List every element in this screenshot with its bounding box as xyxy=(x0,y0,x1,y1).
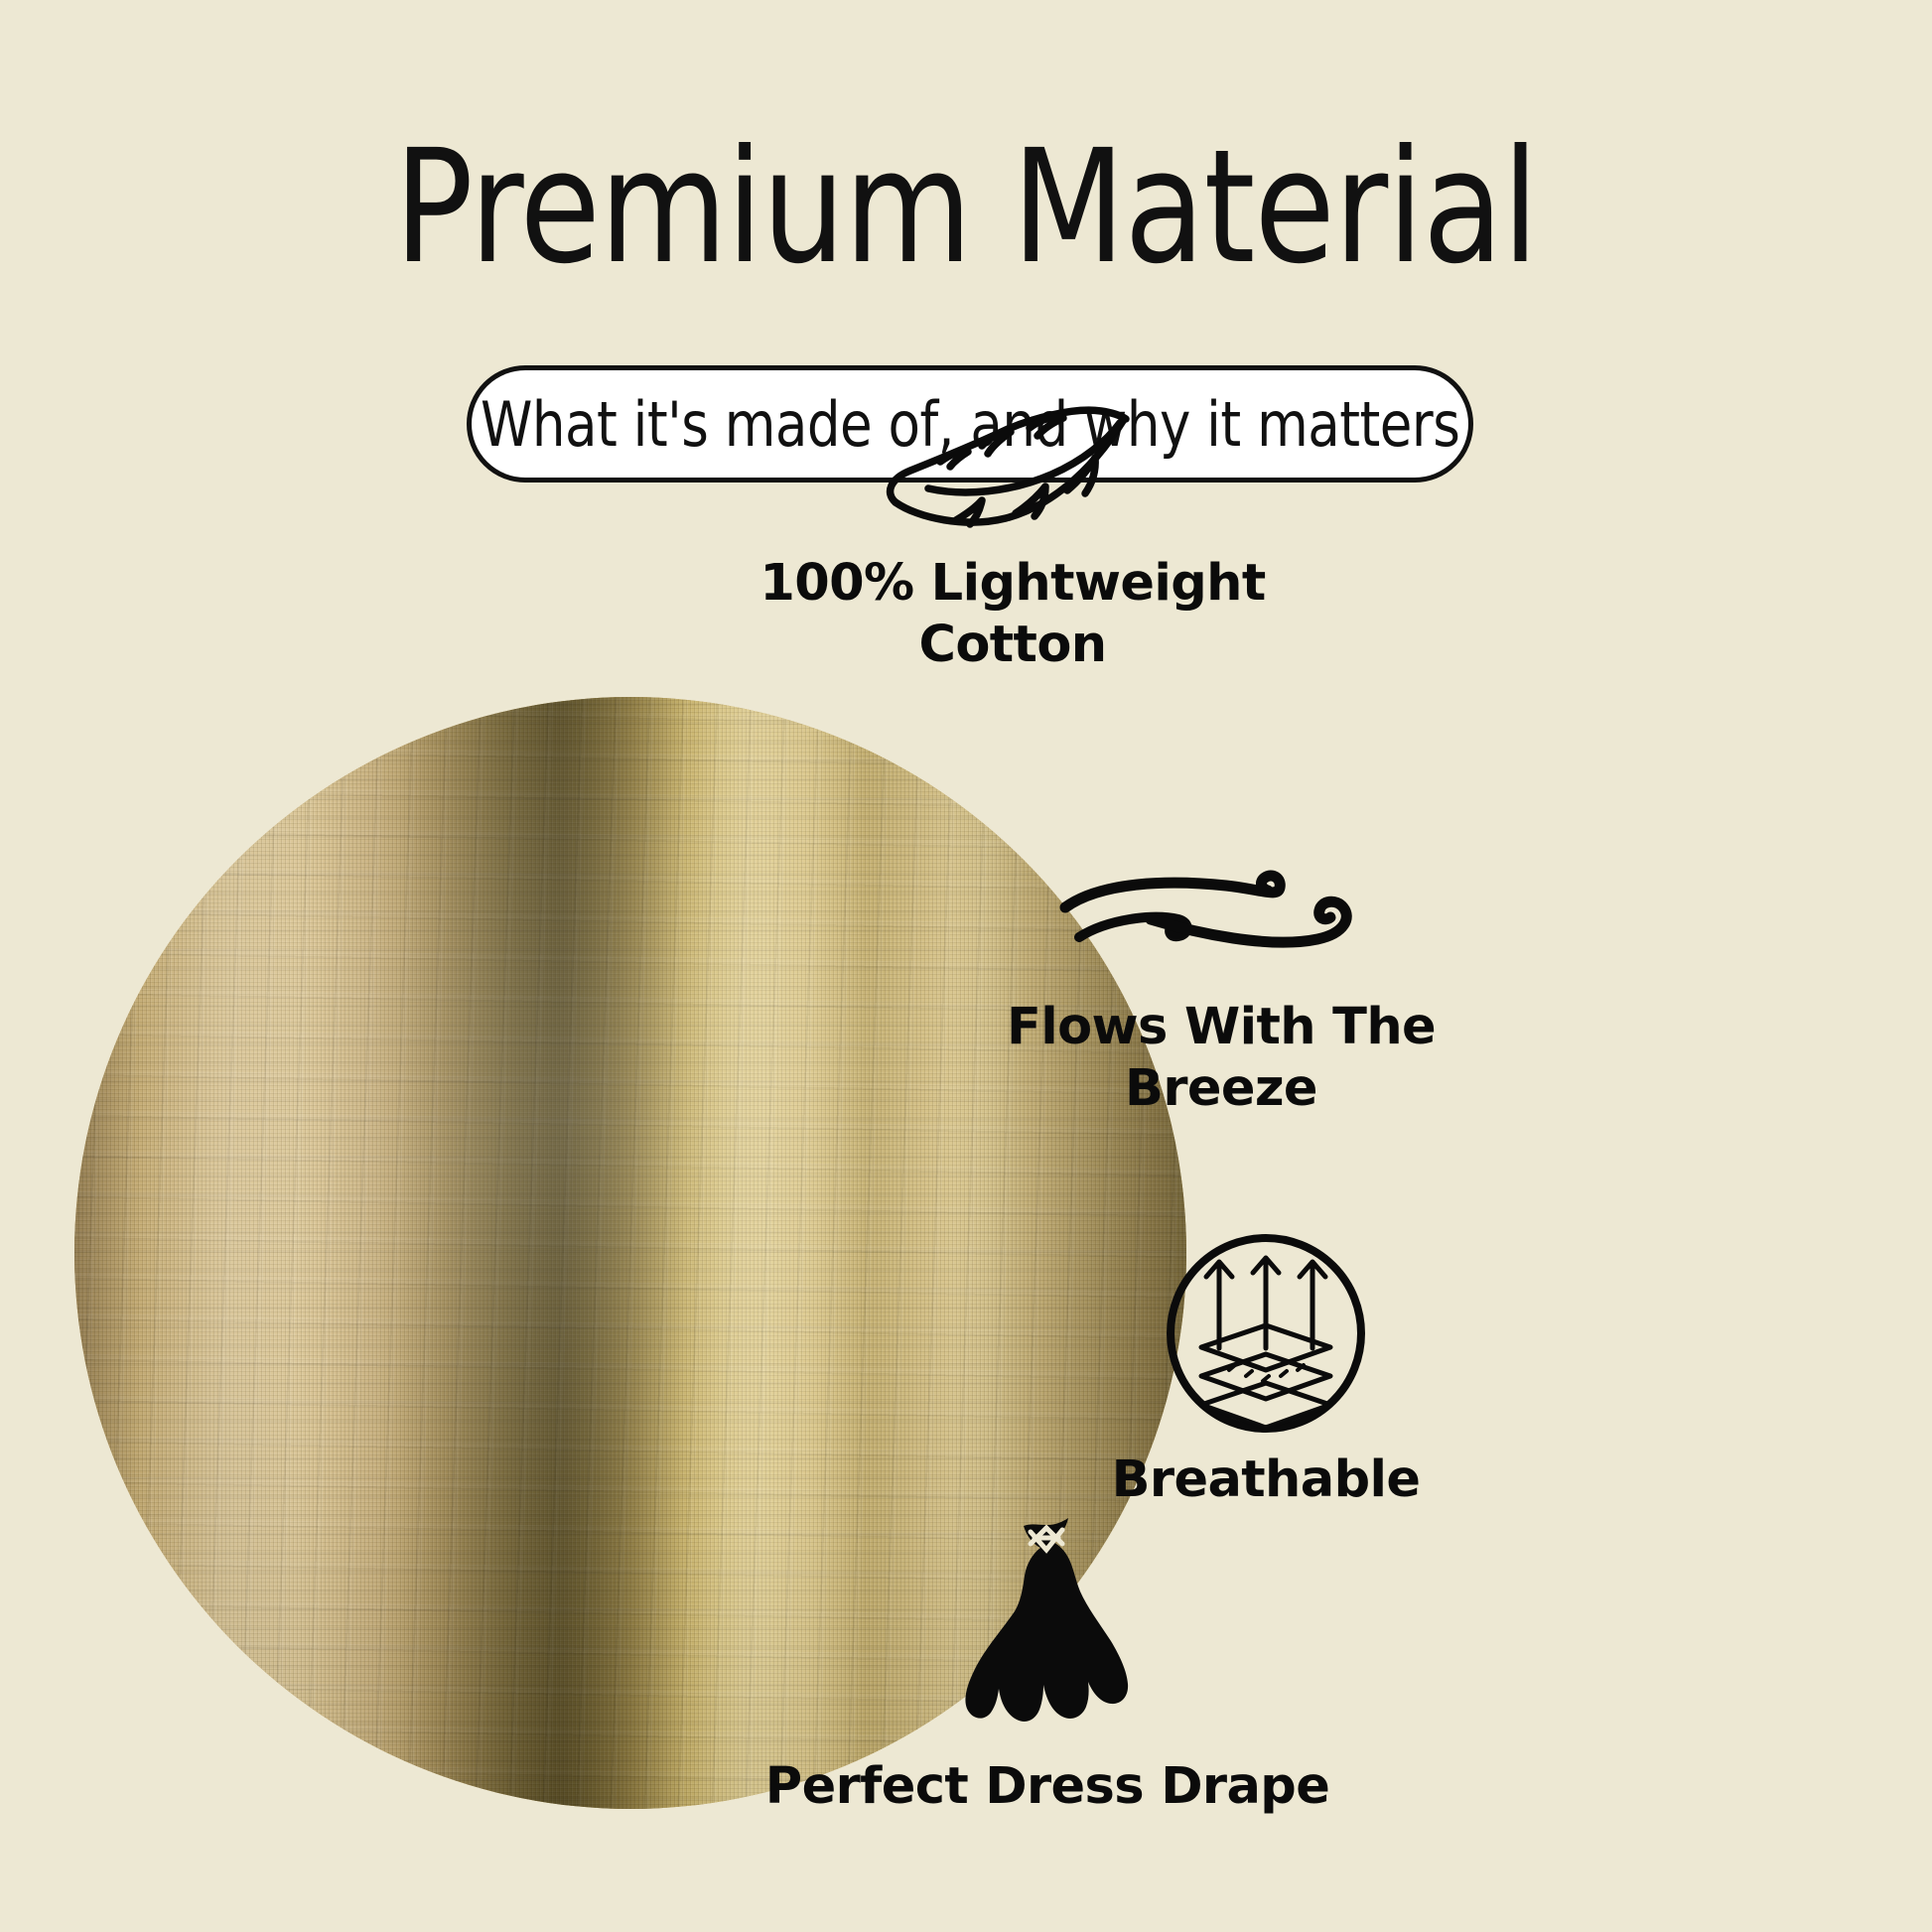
feature-breathable: Breathable xyxy=(1018,1231,1514,1511)
feature-perfect-dress-drape: Perfect Dress Drape xyxy=(764,1514,1330,1818)
wind-swirl-icon xyxy=(1057,864,1385,983)
infographic-canvas: Premium Material What it's made of, and … xyxy=(0,0,1932,1932)
feature-flows-with-breeze: Flows With The Breeze xyxy=(953,864,1489,1120)
feature-label-breathable: Breathable xyxy=(1112,1449,1421,1511)
feature-label-flows-with-breeze: Flows With The Breeze xyxy=(953,997,1489,1120)
feature-label-perfect-dress-drape: Perfect Dress Drape xyxy=(765,1756,1329,1818)
feature-lightweight-cotton: 100% Lightweight Cotton xyxy=(735,405,1291,676)
feature-label-lightweight-cotton: 100% Lightweight Cotton xyxy=(735,553,1291,676)
dress-silhouette-icon xyxy=(941,1514,1155,1742)
page-title: Premium Material xyxy=(68,129,1864,286)
breathable-layers-icon xyxy=(1164,1231,1368,1436)
feather-icon xyxy=(879,405,1147,539)
